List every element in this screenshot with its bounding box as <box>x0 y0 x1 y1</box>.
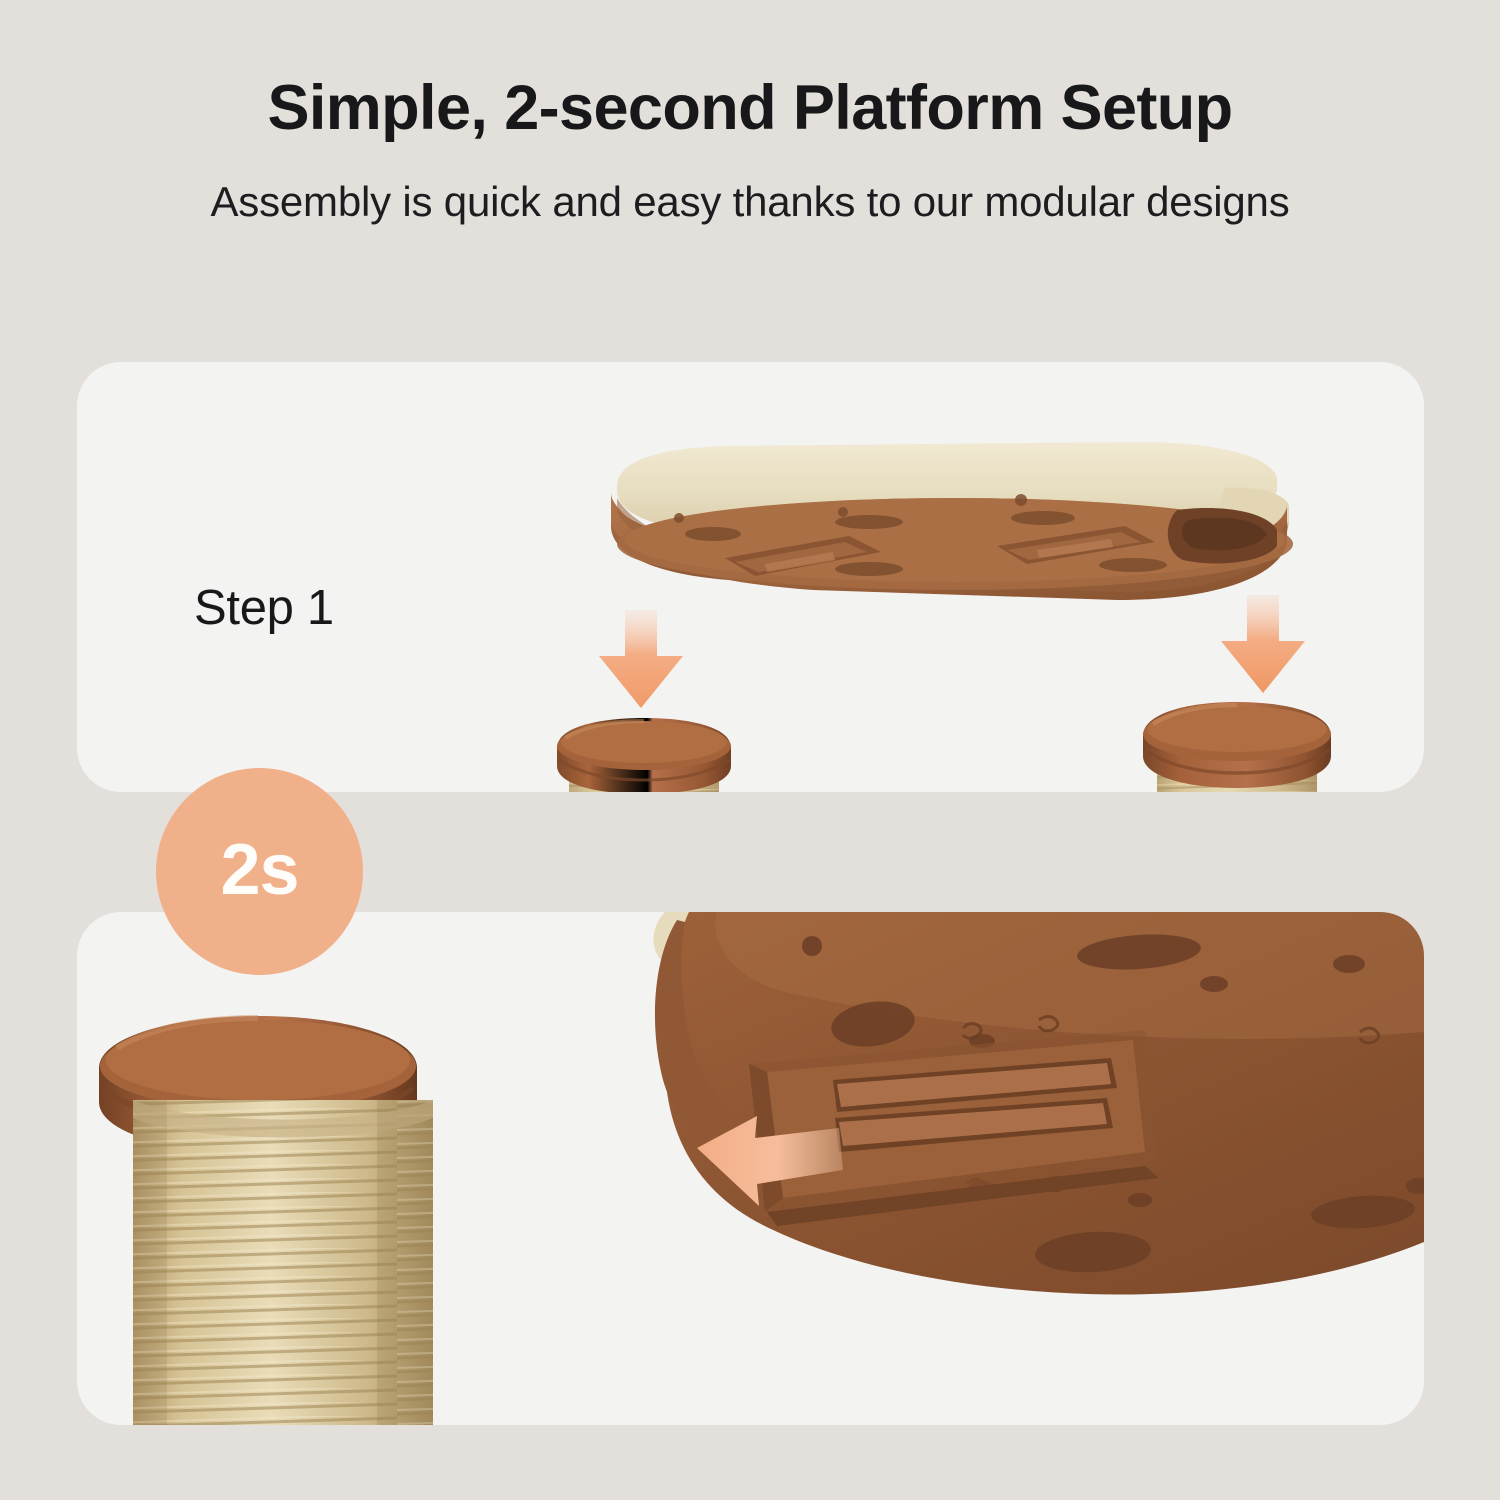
page-title: Simple, 2-second Platform Setup <box>0 72 1500 144</box>
platform-locking-illustration <box>77 912 1424 1425</box>
step-1-card: Step 1 <box>77 362 1424 792</box>
step-1-label: Step 1 <box>194 580 334 636</box>
down-arrow-left-icon <box>595 610 687 710</box>
page-subtitle: Assembly is quick and easy thanks to our… <box>0 176 1500 228</box>
sisal-post-right <box>1127 692 1347 792</box>
duration-badge-label: 2s <box>220 834 298 906</box>
step-2-card: Step 2 <box>77 912 1424 1425</box>
sisal-post-left <box>545 712 745 792</box>
platform-underside-illustration <box>577 440 1297 600</box>
duration-badge: 2s <box>156 768 363 975</box>
down-arrow-right-icon <box>1217 595 1309 695</box>
promo-page: Simple, 2-second Platform Setup Assembly… <box>0 0 1500 1500</box>
